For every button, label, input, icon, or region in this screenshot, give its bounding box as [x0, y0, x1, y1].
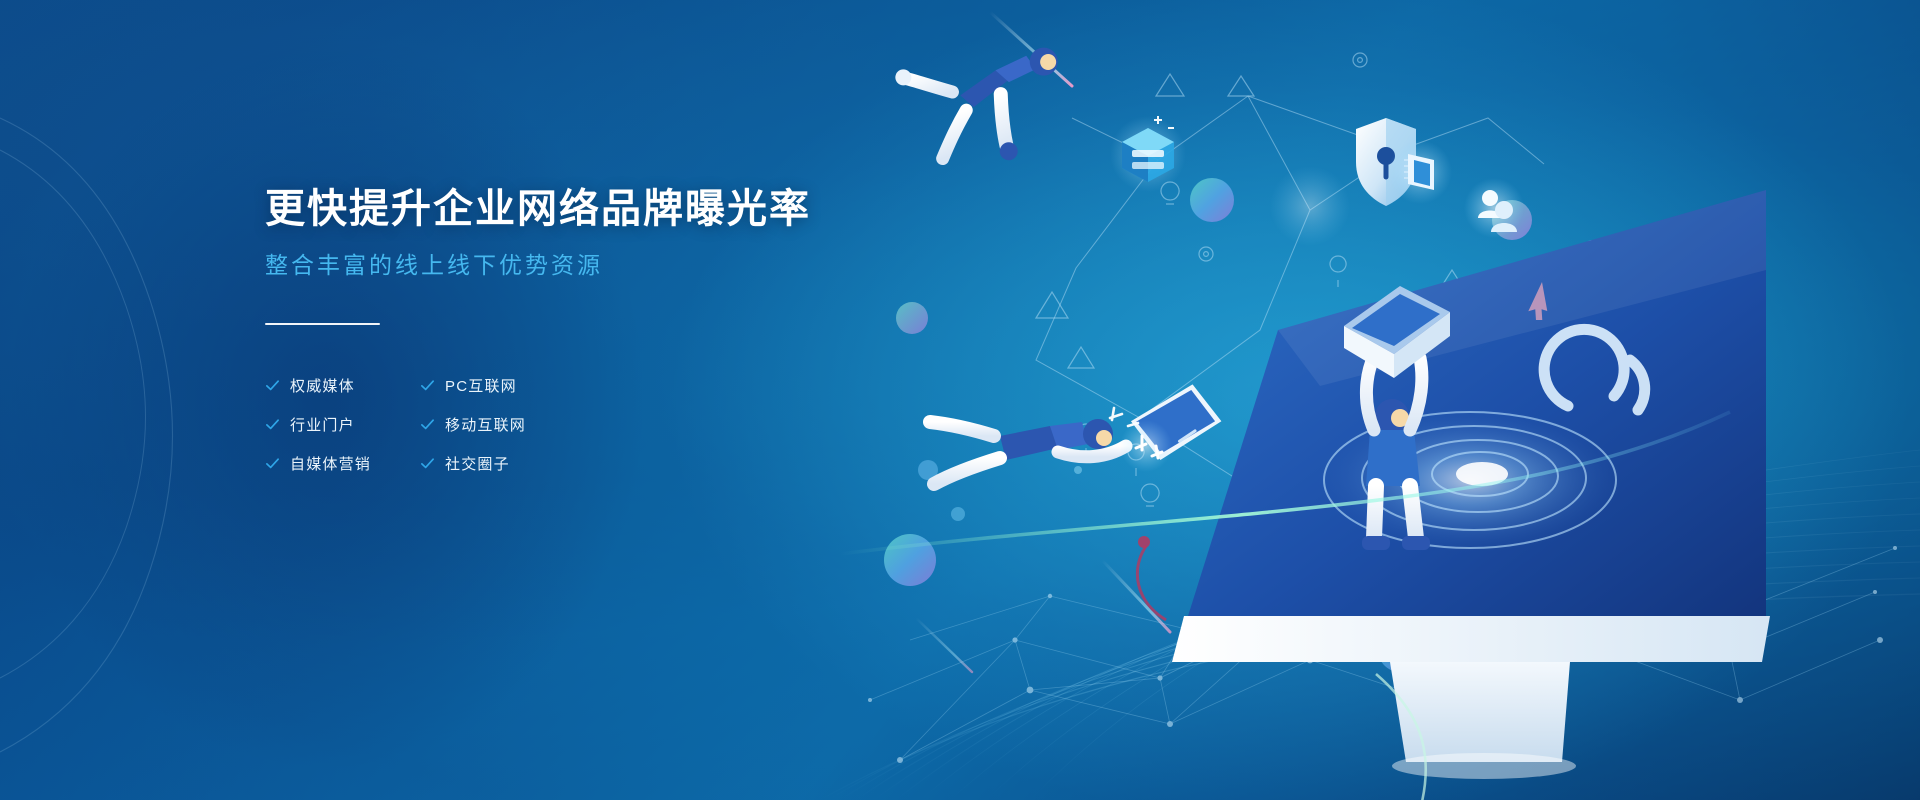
users-icon: [1464, 178, 1524, 238]
feature-item-industry-portal[interactable]: 行业门户: [265, 414, 420, 435]
check-icon: [420, 456, 435, 471]
desktop-monitor: [840, 190, 1770, 800]
banner-root: 更快提升企业网络品牌曝光率 整合丰富的线上线下优势资源 权威媒体 PC互联网: [0, 0, 1920, 800]
feature-label: 权威媒体: [290, 375, 355, 396]
server-cube-icon: [1110, 116, 1186, 192]
divider: [265, 323, 380, 325]
page-subtitle: 整合丰富的线上线下优势资源: [265, 251, 885, 281]
feature-label: PC互联网: [445, 375, 517, 396]
feature-item-social-circle[interactable]: 社交圈子: [420, 453, 885, 474]
check-icon: [265, 378, 280, 393]
feature-item-self-media-marketing[interactable]: 自媒体营销: [265, 453, 420, 474]
feature-list: 权威媒体 PC互联网 行业门户 移动互联网: [265, 375, 885, 474]
banner-text-block: 更快提升企业网络品牌曝光率 整合丰富的线上线下优势资源 权威媒体 PC互联网: [265, 186, 885, 474]
feature-label: 社交圈子: [445, 453, 510, 474]
feature-item-mobile-internet[interactable]: 移动互联网: [420, 414, 885, 435]
check-icon: [420, 378, 435, 393]
feature-item-pc-internet[interactable]: PC互联网: [420, 375, 885, 396]
feature-label: 行业门户: [290, 414, 355, 435]
chip-icon: [1388, 140, 1452, 204]
feature-label: 移动互联网: [445, 414, 526, 435]
tech-network-illustration: [840, 0, 1920, 800]
feature-item-authoritative-media[interactable]: 权威媒体: [265, 375, 420, 396]
check-icon: [265, 417, 280, 432]
check-icon: [265, 456, 280, 471]
page-title: 更快提升企业网络品牌曝光率: [265, 186, 885, 233]
meteor-streaks: [916, 12, 1170, 672]
sparkle-icon: [1120, 420, 1172, 472]
floating-person-top: [893, 14, 1086, 189]
screen-vortex: [1318, 408, 1622, 552]
feature-label: 自媒体营销: [290, 453, 371, 474]
check-icon: [420, 417, 435, 432]
